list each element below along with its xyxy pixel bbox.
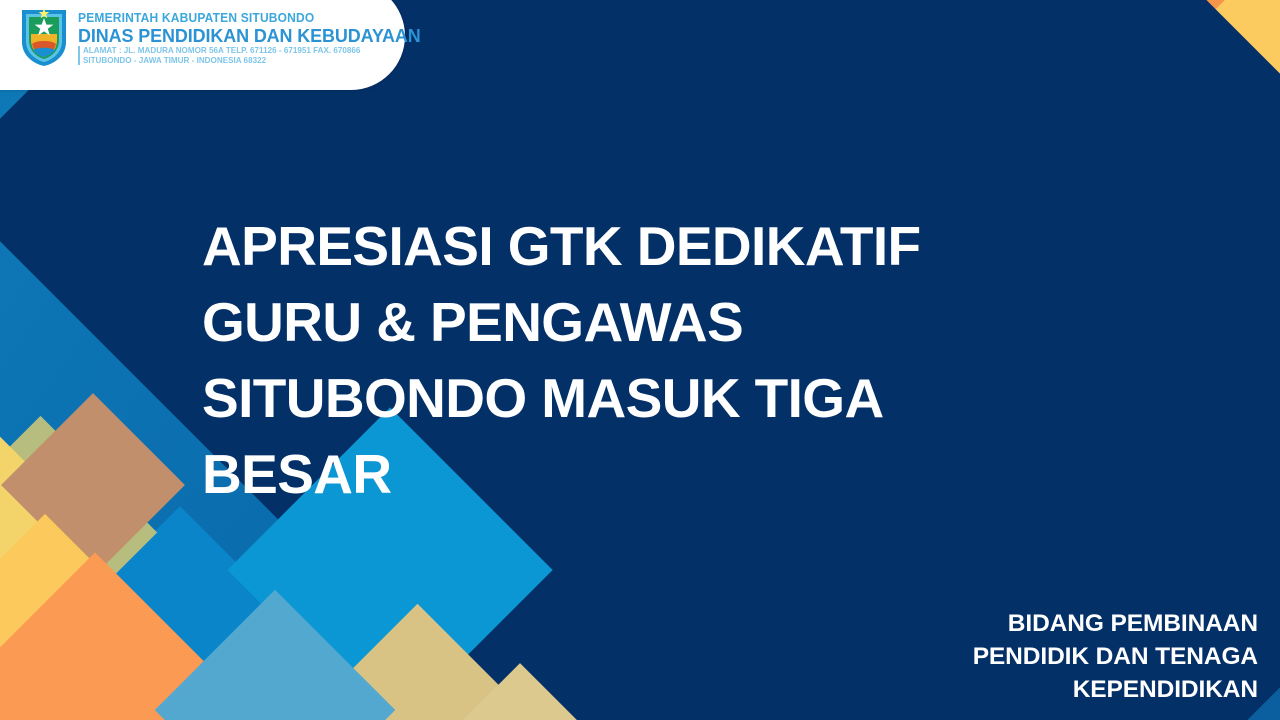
situbondo-regency-crest-icon <box>18 4 70 68</box>
header-address-line-2: SITUBONDO - JAWA TIMUR - INDONESIA 68322 <box>78 56 428 66</box>
footer-line-3: KEPENDIDIKAN <box>698 673 1258 706</box>
slide-title: APRESIASI GTK DEDIKATIF GURU & PENGAWAS … <box>202 208 992 512</box>
presentation-slide: PEMERINTAH KABUPATEN SITUBONDO DINAS PEN… <box>0 0 1280 720</box>
footer-line-1: BIDANG PEMBINAAN <box>698 607 1258 640</box>
slide-footer-attribution: BIDANG PEMBINAAN PENDIDIK DAN TENAGA KEP… <box>698 607 1258 706</box>
header-department-line: DINAS PENDIDIKAN DAN KEBUDAYAAN <box>78 25 421 46</box>
institution-header-badge: PEMERINTAH KABUPATEN SITUBONDO DINAS PEN… <box>0 0 405 90</box>
footer-line-2: PENDIDIK DAN TENAGA <box>698 640 1258 673</box>
header-text-block: PEMERINTAH KABUPATEN SITUBONDO DINAS PEN… <box>78 7 431 65</box>
slide-title-line-4: BESAR <box>202 436 992 512</box>
slide-title-line-2: GURU & PENGAWAS <box>202 284 992 360</box>
slide-title-line-3: SITUBONDO MASUK TIGA <box>202 360 992 436</box>
header-address-line-1: ALAMAT : JL. MADURA NOMOR 56A TELP. 6711… <box>78 46 428 56</box>
header-government-line: PEMERINTAH KABUPATEN SITUBONDO <box>78 11 417 25</box>
slide-title-line-1: APRESIASI GTK DEDIKATIF <box>202 208 992 284</box>
